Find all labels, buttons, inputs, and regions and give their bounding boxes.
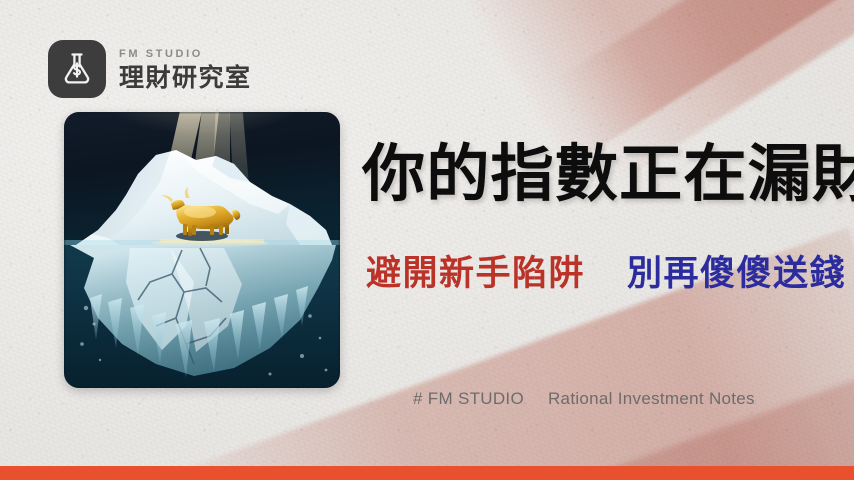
artwork-thumbnail: [64, 112, 340, 388]
brand-english-name: FM STUDIO: [119, 49, 252, 60]
bottom-accent-bar: [0, 466, 854, 480]
subtitle-left-text: 避開新手陷阱: [366, 256, 585, 291]
thumbnail-canvas: FM STUDIO 理財研究室: [0, 0, 854, 480]
footer-hashtag: # FM STUDIO: [413, 389, 524, 409]
iceberg-illustration: [64, 112, 340, 388]
flask-dollar-icon: [48, 40, 106, 98]
headline-text: 你的指數正在漏財: [362, 143, 854, 205]
subtitle-right-text: 別再傻傻送錢: [627, 256, 846, 291]
footer-row: # FM STUDIO Rational Investment Notes: [413, 389, 755, 409]
brand-wordmark: FM STUDIO 理財研究室: [119, 49, 252, 90]
brand-logo-lockup: FM STUDIO 理財研究室: [48, 40, 252, 98]
subtitle-row: 避開新手陷阱 別再傻傻送錢: [366, 256, 846, 291]
brand-chinese-name: 理財研究室: [119, 65, 252, 90]
footer-tagline: Rational Investment Notes: [548, 389, 755, 409]
